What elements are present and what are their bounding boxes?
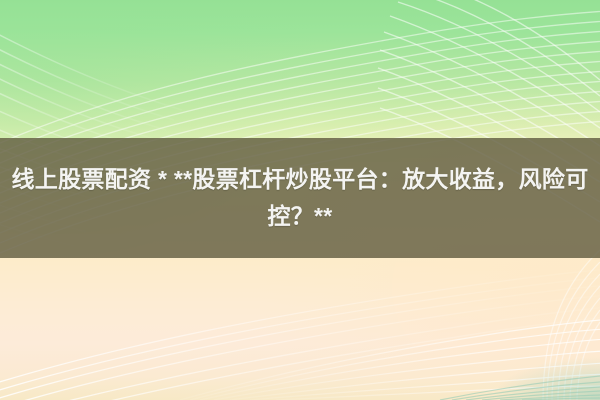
headline-text: 线上股票配资 * **股票杠杆炒股平台：放大收益，风险可控？** — [10, 161, 590, 236]
banner-image: 线上股票配资 * **股票杠杆炒股平台：放大收益，风险可控？** — [0, 0, 600, 400]
headline-overlay-bar: 线上股票配资 * **股票杠杆炒股平台：放大收益，风险可控？** — [0, 138, 600, 258]
teal-corner-accent — [430, 330, 600, 400]
